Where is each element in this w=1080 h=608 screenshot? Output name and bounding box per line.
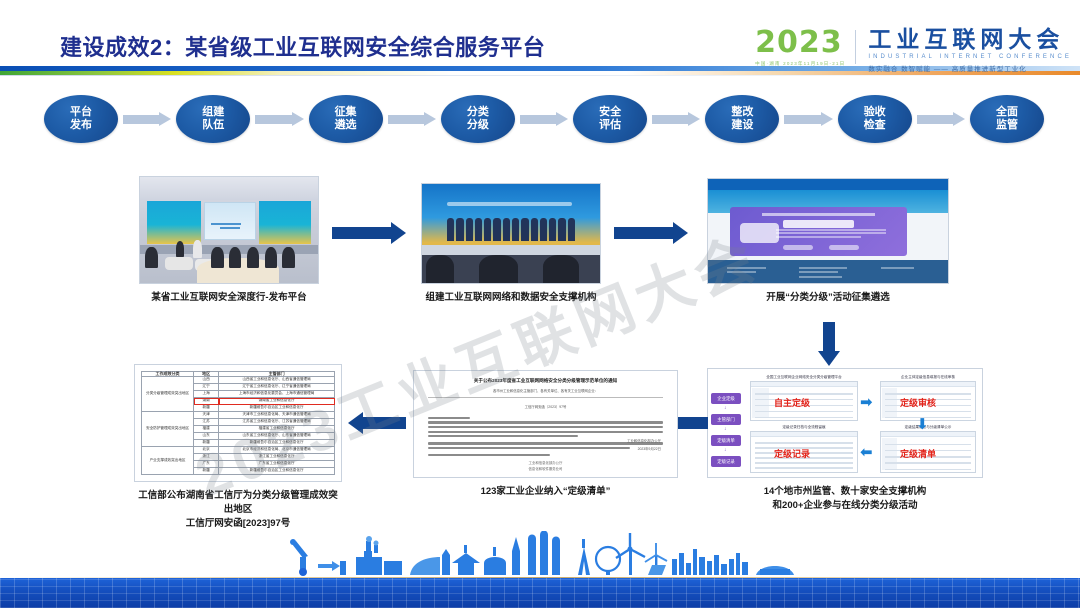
- results-table: 工作成效分类 地区 主管部门 分类分级管理成效突出地区 山西 山西省工业和信息化…: [135, 365, 341, 481]
- footer-skyline: [0, 532, 1080, 608]
- table-cell-region: 山东: [194, 433, 219, 440]
- logo-chinese-name: 工业互联网大会: [868, 28, 1072, 51]
- flow-node-7: 验收 检查: [838, 95, 912, 143]
- table-cell-region: 新疆: [194, 468, 219, 475]
- table-cell-dept: 山西省工业和信息化厅、山西省通信管理局: [219, 377, 335, 384]
- panel-5-caption: 123家工业企业纳入“定级清单”: [413, 485, 678, 499]
- process-flow: 平台 发布 组建 队伍 征集 遴选 分类 分级 安全 评估 整改 建设 验收: [44, 90, 1044, 148]
- workflow-mini-caption-4: 定级记录归档与全流程留痕: [751, 425, 857, 430]
- footer-ground-grid: [0, 578, 1080, 608]
- logo-year: 2023: [755, 28, 845, 58]
- workflow-step-2-chip: 主管部门: [711, 414, 741, 425]
- table-cell-region: 新疆: [194, 405, 219, 412]
- photo-conference-hall: [139, 176, 319, 284]
- flow-node-6: 整改 建设: [705, 95, 779, 143]
- flow-node-1-line1: 平台: [70, 106, 92, 119]
- panel-4-caption-line1: 14个地市州监管、数十家安全支撑机构: [707, 485, 983, 499]
- logo-year-block: 2023 中国·湖南 2023年11月19日-21日: [755, 28, 845, 67]
- table-row: 分类分级管理成效突出地区 山西 山西省工业和信息化厅、山西省通信管理局: [142, 377, 335, 384]
- table-body: 分类分级管理成效突出地区 山西 山西省工业和信息化厅、山西省通信管理局 辽宁 辽…: [142, 377, 335, 475]
- notice-doc-number: 工信厅网安函〔2023〕97号: [428, 404, 663, 409]
- table-cell-dept: 浙江省工业和信息化厅: [219, 454, 335, 461]
- table-row: 安全防护管理成效突出地区 天津 天津市工业和信息化局、天津市通信管理局: [142, 412, 335, 419]
- flow-node-6-line2: 建设: [731, 119, 753, 132]
- logo-divider: [855, 30, 856, 64]
- flow-arrow-5-icon: [652, 112, 700, 126]
- photo-stage-ceremony: [421, 183, 601, 284]
- table-cell-dept: 广东省工业和信息化厅: [219, 461, 335, 468]
- slide: 建设成效2：某省级工业互联网安全综合服务平台 2023 中国·湖南 2023年1…: [0, 0, 1080, 608]
- table-cell-dept: 江苏省工业和信息化厅、江苏省通信管理局: [219, 419, 335, 426]
- workflow-mini-caption-1: 全国工业互联网企业网络安全分类分级管理平台: [751, 375, 857, 380]
- panel-4-caption: 14个地市州监管、数十家安全支撑机构 和200+企业参与在线分类分级活动: [707, 485, 983, 513]
- flow-node-2-line2: 队伍: [202, 119, 224, 132]
- flow-node-3-line2: 遴选: [335, 119, 357, 132]
- panel-org-building: 组建工业互联网网络和数据安全支撑机构: [421, 183, 601, 305]
- table-group-name-1: 安全防护管理成效突出地区: [142, 412, 194, 447]
- table-cell-region: 福建: [194, 426, 219, 433]
- table-group-name-2: 产业支撑成效突出地区: [142, 447, 194, 475]
- flow-node-4-line1: 分类: [467, 106, 489, 119]
- workflow-label-grading-list: 定级清单: [900, 447, 936, 460]
- flow-node-7-line2: 检查: [864, 119, 886, 132]
- flow-node-5-line1: 安全: [599, 106, 621, 119]
- table-cell-region: 天津: [194, 412, 219, 419]
- flow-arrow-7-icon: [917, 112, 965, 126]
- arrow-down-icon-1: [818, 322, 840, 366]
- table-cell-region: 湖南: [194, 398, 219, 405]
- flow-node-1: 平台 发布: [44, 95, 118, 143]
- panel-activity-site: 开展“分类分级”活动征集遴选: [707, 178, 949, 305]
- screenshot-grading-workflow: 企业定级 ↓ 主管部门 ↓ 定级清单 ↓ 定级记录 全国工业互联网企业网络安全分…: [707, 368, 983, 478]
- panel-platform-launch: 某省工业互联网安全深度行-发布平台: [139, 176, 319, 305]
- logo-year-subtitle: 中国·湖南 2023年11月19日-21日: [755, 61, 845, 67]
- workflow-tick-2-icon: ↓: [724, 426, 727, 432]
- workflow-step-4-chip: 定级记录: [711, 456, 741, 467]
- flow-node-8: 全面 监管: [970, 95, 1044, 143]
- table-cell-dept: 福建省工业和信息化厅: [219, 426, 335, 433]
- table-cell-dept: 天津市工业和信息化局、天津市通信管理局: [219, 412, 335, 419]
- table-cell-dept: 湖南省工业和信息化厅: [219, 398, 335, 405]
- notice-signer-date: 2023年9月22日: [577, 446, 661, 451]
- panel-6-caption-line2: 工信厅网安函[2023]97号: [134, 517, 342, 531]
- workflow-label-grading-record: 定级记录: [774, 447, 810, 460]
- slide-header: 建设成效2：某省级工业互联网安全综合服务平台 2023 中国·湖南 2023年1…: [0, 0, 1080, 88]
- table-cell-dept: 上海市经济和信息化委员会、上海市通信管理局: [219, 391, 335, 398]
- notice-title: 关于公布2023年度省工业互联网网络安全分类分级管理示范单位的通知: [428, 378, 663, 385]
- panel-6-caption-line1: 工信部公布湖南省工信厅为分类分级管理成效突出地区: [134, 489, 342, 517]
- panel-6-caption: 工信部公布湖南省工信厅为分类分级管理成效突出地区 工信厅网安函[2023]97号: [134, 489, 342, 530]
- panel-online-workflow: 企业定级 ↓ 主管部门 ↓ 定级清单 ↓ 定级记录 全国工业互联网企业网络安全分…: [707, 368, 983, 513]
- table-cell-region: 上海: [194, 391, 219, 398]
- table-cell-dept: 山东省工业和信息化厅、山东省通信管理局: [219, 433, 335, 440]
- flow-node-2-line1: 组建: [202, 106, 224, 119]
- workflow-arrow-left-icon: ⬅: [860, 445, 873, 460]
- flow-node-2: 组建 队伍: [176, 95, 250, 143]
- screenshot-activity-website: [707, 178, 949, 284]
- table-cell-region: 辽宁: [194, 384, 219, 391]
- workflow-arrow-down-icon: ⬇: [916, 417, 929, 432]
- flow-arrow-4-icon: [520, 112, 568, 126]
- flow-node-5-line2: 评估: [599, 119, 621, 132]
- table-group-name-0: 分类分级管理成效突出地区: [142, 377, 194, 412]
- flow-node-3: 征集 遴选: [309, 95, 383, 143]
- workflow-tick-1-icon: ↓: [724, 405, 727, 411]
- table-cell-region: 山西: [194, 377, 219, 384]
- workflow-step-3-chip: 定级清单: [711, 435, 741, 446]
- notice-subtitle: 各市州工业和信息化主管部门、各有关单位、各有关工业互联网企业：: [428, 388, 663, 393]
- panel-grading-list-doc: 关于公布2023年度省工业互联网网络安全分类分级管理示范单位的通知 各市州工业和…: [413, 370, 678, 499]
- workflow-arrow-right-icon: ➡: [860, 395, 873, 410]
- table-cell-dept: 辽宁省工业和信息化厅、辽宁省通信管理局: [219, 384, 335, 391]
- panel-3-caption: 开展“分类分级”活动征集遴选: [707, 291, 949, 305]
- logo-english-name: INDUSTRIAL INTERNET CONFERENCE: [868, 54, 1072, 60]
- panel-1-caption: 某省工业互联网安全深度行-发布平台: [139, 291, 319, 305]
- notice-signer-org: 工业和信息化部办公厅: [577, 438, 661, 443]
- logo-text-block: 工业互联网大会 INDUSTRIAL INTERNET CONFERENCE 数…: [868, 28, 1072, 73]
- table-cell-region: 浙江: [194, 454, 219, 461]
- flow-node-5: 安全 评估: [573, 95, 647, 143]
- panel-mitt-recognition: 工作成效分类 地区 主管部门 分类分级管理成效突出地区 山西 山西省工业和信息化…: [134, 364, 342, 530]
- flow-node-4: 分类 分级: [441, 95, 515, 143]
- workflow-label-self-grading: 自主定级: [774, 396, 810, 409]
- workflow-tick-3-icon: ↓: [724, 447, 727, 453]
- flow-node-6-line1: 整改: [731, 106, 753, 119]
- conference-logo: 2023 中国·湖南 2023年11月19日-21日 工业互联网大会 INDUS…: [755, 28, 1072, 73]
- flow-node-8-line2: 监管: [996, 119, 1018, 132]
- arrow-right-icon-1: [332, 222, 406, 244]
- flow-node-3-line1: 征集: [335, 106, 357, 119]
- flow-node-1-line2: 发布: [70, 119, 92, 132]
- skyline-graphic-icon: [0, 531, 1080, 579]
- table-cell-dept: 新疆维吾尔自治区工业和信息化厅: [219, 405, 335, 412]
- panel-4-caption-line2: 和200+企业参与在线分类分级活动: [707, 499, 983, 513]
- workflow-mini-caption-2: 企业主体定级信息填报与在线审核: [881, 375, 975, 380]
- table-cell-region: 江苏: [194, 419, 219, 426]
- flow-node-7-line1: 验收: [864, 106, 886, 119]
- screenshot-results-table: 工作成效分类 地区 主管部门 分类分级管理成效突出地区 山西 山西省工业和信息化…: [134, 364, 342, 482]
- flow-arrow-3-icon: [388, 112, 436, 126]
- workflow-step-1-chip: 企业定级: [711, 393, 741, 404]
- arrow-left-icon-2: [348, 412, 406, 434]
- table-row: 产业支撑成效突出地区 北京 北京市经济和信息化局、北京市通信管理局: [142, 447, 335, 454]
- table-cell-region: 北京: [194, 447, 219, 454]
- panel-2-caption: 组建工业互联网网络和数据安全支撑机构: [421, 291, 601, 305]
- arrow-right-icon-2: [614, 222, 688, 244]
- workflow-label-grading-review: 定级审核: [900, 396, 936, 409]
- screenshot-notice-document: 关于公布2023年度省工业互联网网络安全分类分级管理示范单位的通知 各市州工业和…: [413, 370, 678, 478]
- table-cell-region: 新疆: [194, 440, 219, 447]
- notice-signature: 工业和信息化部办公厅 2023年9月22日: [577, 435, 661, 451]
- notice-stamp: 工业和信息化部办公厅 信息化和软件服务业司: [414, 461, 677, 472]
- page-title: 建设成效2：某省级工业互联网安全综合服务平台: [60, 30, 545, 62]
- table-cell-dept: 新疆维吾尔自治区工业和信息化厅: [219, 468, 335, 475]
- logo-tagline: 数实融合 数智赋能 —— 高质量推进新型工业化: [868, 63, 1072, 73]
- flow-arrow-1-icon: [123, 112, 171, 126]
- table-cell-region: 广东: [194, 461, 219, 468]
- flow-arrow-2-icon: [255, 112, 303, 126]
- notice-stamp-line2: 信息化和软件服务业司: [414, 467, 677, 472]
- flow-node-8-line1: 全面: [996, 106, 1018, 119]
- flow-arrow-6-icon: [784, 112, 832, 126]
- header-rule-thin: [0, 75, 1080, 76]
- table-cell-dept: 新疆维吾尔自治区工业和信息化厅: [219, 440, 335, 447]
- table-cell-dept: 北京市经济和信息化局、北京市通信管理局: [219, 447, 335, 454]
- flow-node-4-line2: 分级: [467, 119, 489, 132]
